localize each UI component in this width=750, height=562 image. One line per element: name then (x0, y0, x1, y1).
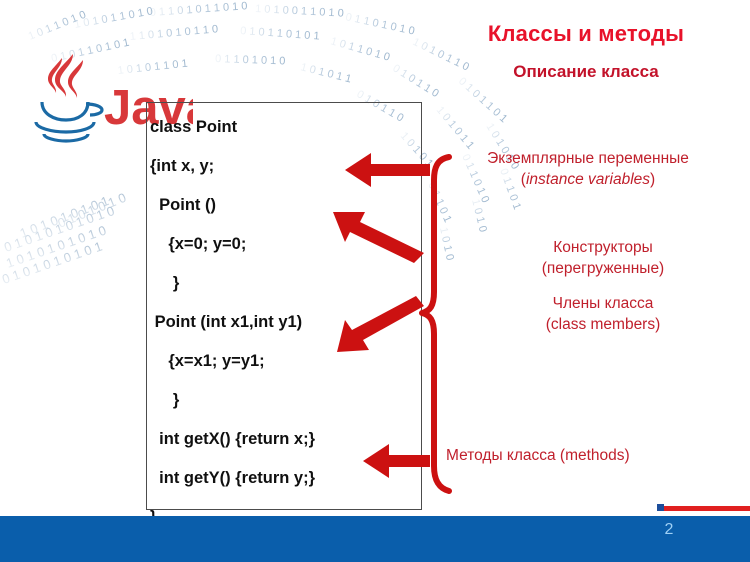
svg-text:0 1 0 1 0 1 0 1 0 1: 0 1 0 1 0 1 0 1 0 1 (0, 239, 104, 287)
code-line: {x=x1; y=y1; (150, 342, 420, 381)
code-line: } (150, 264, 420, 303)
svg-text:1 0 1 1 0 1 0: 1 0 1 1 0 1 0 (329, 35, 391, 63)
svg-text:0 1 1 0 1 0 1 1 0 1 0: 0 1 1 0 1 0 1 1 0 1 0 (149, 0, 247, 19)
footer-accent-dot (657, 504, 664, 511)
annotation-line: (перегруженные) (460, 258, 746, 279)
code-line: class Point (150, 108, 420, 147)
svg-text:0 1 1 0 1 0 1 0: 0 1 1 0 1 0 1 0 (215, 53, 286, 67)
svg-text:1 0 1 0 1 0 1 0 1: 1 0 1 0 1 0 1 0 1 (18, 193, 111, 241)
page-number: 2 (654, 521, 684, 539)
annotation-italic-term: instance variables (526, 171, 650, 188)
annotation-line: (instance variables) (430, 169, 746, 190)
annotation-line: Экземплярные переменные (430, 148, 746, 169)
annotation-class-members: Члены класса (class members) (460, 293, 746, 335)
annotation-line: Методы класса (methods) (446, 445, 746, 466)
svg-text:1 0 1 0 0 1 1 0 1 0: 1 0 1 0 0 1 1 0 1 0 (255, 3, 344, 20)
svg-text:0 1 0 1 0 1 0 1 0 1: 0 1 0 1 0 1 0 1 0 1 0 (2, 203, 116, 255)
code-block: class Point {int x, y; Point () {x=0; y=… (150, 108, 420, 508)
code-line: {int x, y; (150, 147, 420, 186)
svg-text:0 1 0 1 1 0 1 0 1: 0 1 0 1 1 0 1 0 1 (240, 25, 320, 43)
code-line: Point (int x1,int y1) (150, 303, 420, 342)
svg-text:1 0 1 0: 1 0 1 0 (469, 198, 489, 234)
svg-text:1 0 1 0 1 1: 1 0 1 0 1 1 (434, 104, 477, 152)
svg-text:1 0 1 0 1 1 0 1 0: 1 0 1 0 1 1 0 1 0 (73, 5, 153, 31)
annotation-line: Конструкторы (460, 237, 746, 258)
slide-title: Классы и методы (430, 21, 742, 47)
annotation-line: (class members) (460, 314, 746, 335)
footer-accent-line (660, 506, 750, 511)
slide-subtitle: Описание класса (430, 62, 742, 82)
svg-text:1 0 1 0 1 1: 1 0 1 0 1 1 (299, 61, 352, 85)
svg-text:1 0 1 1 0 1 0: 1 0 1 1 0 1 0 (27, 9, 88, 43)
annotation-instance-variables: Экземплярные переменные (instance variab… (430, 148, 746, 190)
code-line: int getY() {return y;} (150, 459, 420, 498)
code-line: {x=0; y=0; (150, 225, 420, 264)
code-line: int getX() {return x;} (150, 420, 420, 459)
annotation-methods: Методы класса (methods) (446, 445, 746, 466)
annotation-paren-close: ) (650, 171, 655, 188)
annotation-constructors: Конструкторы (перегруженные) (460, 237, 746, 279)
svg-text:1 0 1 0: 1 0 1 0 (437, 226, 456, 261)
svg-text:1 0 1 0 1 0 1 0 1 0: 1 0 1 0 1 0 1 0 1 0 (4, 223, 108, 271)
code-line: } (150, 381, 420, 420)
code-line: Point () (150, 186, 420, 225)
slide-canvas: 1 0 1 1 0 1 0 1 0 1 0 1 1 0 1 0 0 1 1 0 … (0, 0, 750, 562)
svg-text:0 1 0 1 0 1 0: 0 1 0 1 0 1 0 (56, 190, 129, 231)
annotation-line: Члены класса (460, 293, 746, 314)
svg-text:0 1 1 0 1 0 1 0: 0 1 1 0 1 0 1 0 (344, 11, 415, 37)
svg-text:1 1 0 1 0 1 0 1 1 0: 1 1 0 1 0 1 0 1 1 0 (129, 23, 218, 43)
svg-text:0 1 0 1 1 0 1: 0 1 0 1 1 0 1 (456, 75, 509, 125)
curly-brace-icon (422, 157, 449, 491)
footer-bar (0, 516, 750, 562)
